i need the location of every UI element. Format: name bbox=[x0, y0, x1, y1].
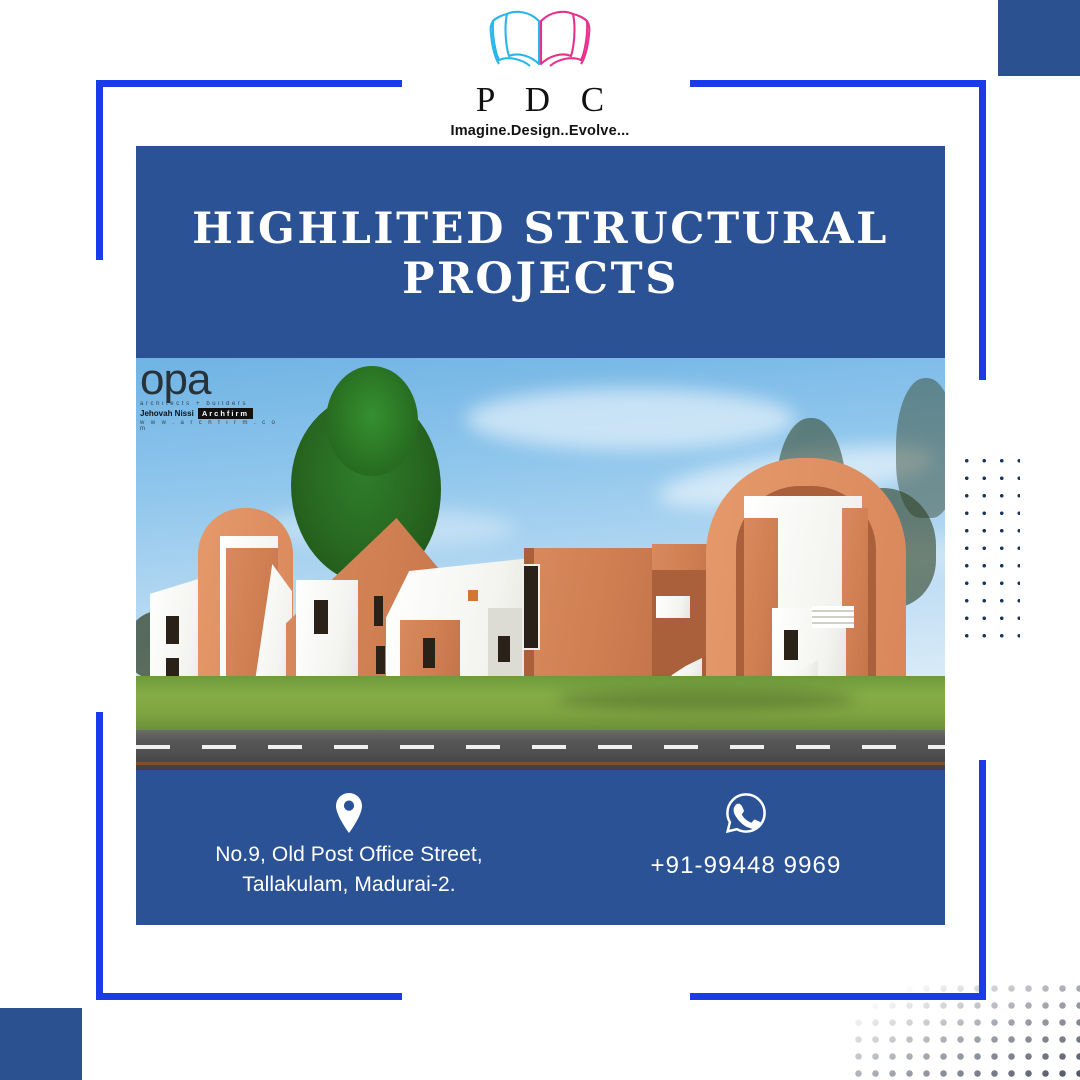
window bbox=[423, 638, 435, 668]
map-pin-icon bbox=[154, 788, 544, 838]
watermark-mark: opa bbox=[140, 360, 278, 400]
address-block: No.9, Old Post Office Street, Tallakulam… bbox=[154, 788, 544, 898]
window bbox=[166, 616, 179, 644]
open-book-icon bbox=[0, 4, 1080, 76]
project-render-image: opa architects + builders Jehovah Nissi … bbox=[136, 358, 945, 770]
window bbox=[498, 636, 510, 662]
terracotta-block bbox=[524, 548, 658, 688]
dot-grid-decoration bbox=[958, 452, 1020, 638]
brand-logo: P D C Imagine.Design..Evolve... bbox=[0, 4, 1080, 139]
render-watermark: opa architects + builders Jehovah Nissi … bbox=[140, 360, 278, 416]
page-title: HIGHLITED STRUCTURAL PROJECTS bbox=[136, 146, 945, 305]
address-line-1: No.9, Old Post Office Street, bbox=[154, 842, 544, 868]
watermark-line-1: architects + builders bbox=[140, 401, 278, 407]
watermark-website: w w w . a r c h f i r m . c o m bbox=[140, 420, 278, 432]
brand-tagline: Imagine.Design..Evolve... bbox=[0, 123, 1080, 139]
frame-right-lower-segment bbox=[979, 760, 986, 1000]
stair-volume bbox=[656, 596, 690, 618]
watermark-firm-box: Archfirm bbox=[198, 408, 253, 419]
contact-footer: No.9, Old Post Office Street, Tallakulam… bbox=[136, 770, 945, 925]
poster-card: HIGHLITED STRUCTURAL PROJECTS bbox=[136, 146, 945, 925]
brand-name: P D C bbox=[0, 80, 1080, 120]
window bbox=[374, 596, 383, 626]
phone-number[interactable]: +91-99448 9969 bbox=[566, 852, 926, 880]
foreground-tree-top bbox=[326, 366, 418, 476]
cloud-shape bbox=[466, 388, 796, 450]
louver-panel bbox=[812, 606, 854, 628]
whatsapp-icon[interactable] bbox=[566, 788, 926, 838]
window-tall bbox=[522, 564, 540, 650]
frame-bottom-left-segment bbox=[96, 993, 402, 1000]
window bbox=[376, 646, 385, 674]
headline-line-1: HIGHLITED STRUCTURAL bbox=[166, 204, 915, 254]
corner-square-bottom-left bbox=[0, 1008, 82, 1080]
background-tree bbox=[896, 378, 945, 518]
lawn-shadow bbox=[556, 688, 856, 710]
watermark-line-2: Jehovah Nissi Archfirm bbox=[140, 408, 278, 419]
road-lane-markings bbox=[136, 745, 945, 749]
window bbox=[784, 630, 798, 660]
watermark-firm-prefix: Jehovah Nissi bbox=[140, 409, 194, 418]
headline-line-2: PROJECTS bbox=[166, 254, 915, 304]
phone-block: +91-99448 9969 bbox=[566, 788, 926, 880]
frame-left-lower-segment bbox=[96, 712, 103, 1000]
road-edge bbox=[136, 762, 945, 765]
address-line-2: Tallakulam, Madurai-2. bbox=[154, 872, 544, 898]
window bbox=[314, 600, 328, 634]
gradient-dot-field-decoration bbox=[850, 980, 1080, 1080]
accent-block bbox=[468, 590, 478, 601]
building-volume bbox=[296, 580, 358, 688]
